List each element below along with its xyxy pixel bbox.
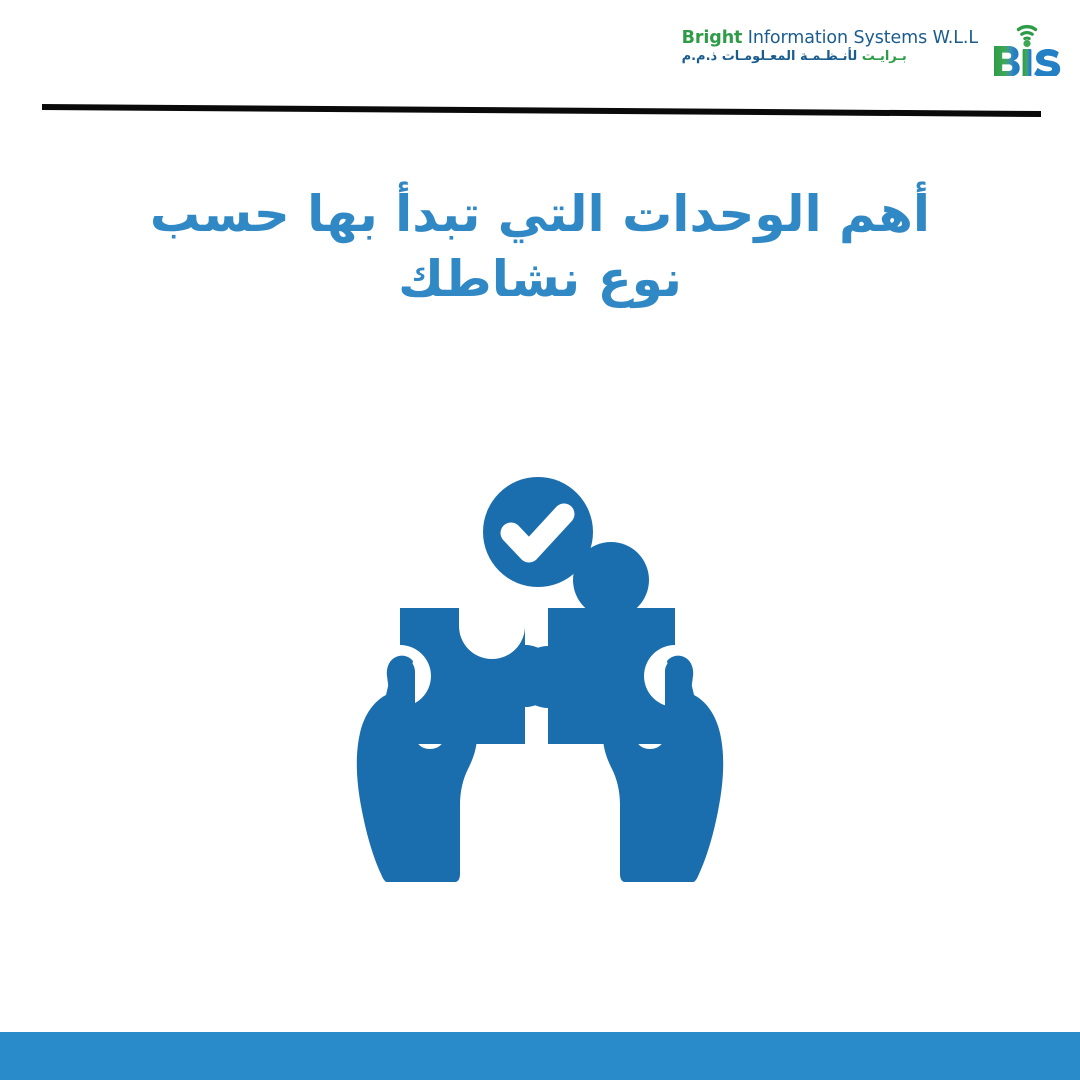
header-divider [0, 96, 1080, 122]
company-name-arabic-suffix: لأنـظـمـة المعـلومـات ذ.م.م [682, 49, 862, 64]
brand-logo-text: Bright Information Systems W.L.L بـرايـت… [682, 28, 978, 67]
footer-bar [0, 1032, 1080, 1080]
hand-left-icon [357, 659, 477, 882]
hands-holding-puzzle-pieces-illustration [300, 440, 780, 900]
company-name-bright: Bright [682, 28, 743, 48]
wifi-waves-icon [1019, 27, 1036, 39]
divider-line [42, 104, 1041, 117]
brand-logo[interactable]: Bright Information Systems W.L.L بـرايـت… [682, 18, 1066, 76]
company-name-suffix: Information Systems W.L.L [742, 28, 978, 48]
letter-s [1034, 49, 1060, 76]
page-title: أهم الوحدات التي تبدأ بها حسب نوع نشاطك [120, 182, 960, 312]
company-name-arabic: بـرايـت لأنـظـمـة المعـلومـات ذ.م.م [682, 49, 907, 65]
letter-i [1023, 49, 1032, 76]
social-card-canvas: Bright Information Systems W.L.L بـرايـت… [0, 0, 1080, 1080]
bis-logo-mark [988, 18, 1066, 76]
hand-right-icon [603, 659, 723, 882]
company-name-arabic-bright: بـرايـت [862, 49, 907, 64]
letter-b [994, 46, 1020, 76]
letter-i-dot [1023, 40, 1030, 47]
company-name-english: Bright Information Systems W.L.L [682, 28, 978, 48]
